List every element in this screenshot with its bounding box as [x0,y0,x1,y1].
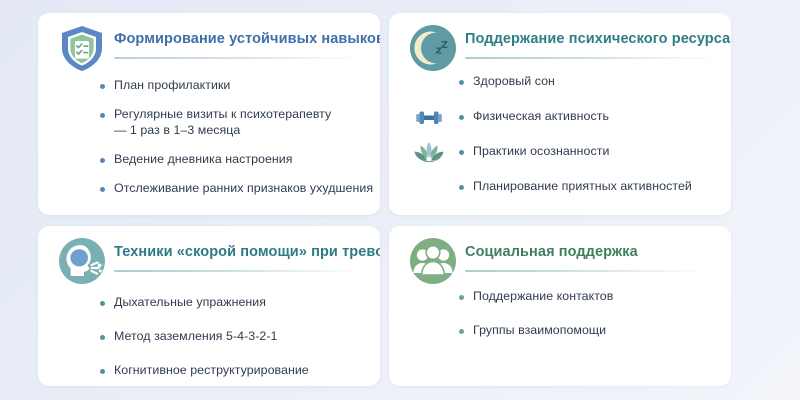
dumbbell-icon [412,104,446,132]
card-item-list: План профилактики Регулярные визиты к пс… [100,77,380,196]
bullet-icon [459,150,464,155]
card-skills: Формирование устойчивых навыков План про… [38,13,380,215]
list-item: Когнитивное реструктурирование [100,362,380,378]
list-item: Ведение дневника настроения [100,151,380,167]
bullet-icon [459,329,464,334]
list-item: Метод заземления 5-4-3-2-1 [100,328,380,344]
list-item-label: Ведение дневника настроения [114,151,293,167]
card-title: Социальная поддержка [465,244,638,260]
title-underline [465,270,707,272]
list-item-label: Физическая активность [473,108,609,124]
card-resource: z Z Поддержание психического ресурса Здо… [389,13,731,215]
card-title: Техники «скорой помощи» при тревоге [114,244,380,260]
bullet-icon [100,369,105,374]
list-item-label: Дыхательные упражнения [114,294,266,310]
bullet-icon [100,158,105,163]
bullet-icon [100,335,105,340]
list-item-label: Группы взаимопомощи [473,322,606,338]
card-header: z Z Поддержание психического ресурса [389,13,731,71]
list-item: Регулярные визиты к психотерапевту — 1 р… [100,106,380,138]
cards-grid: Формирование устойчивых навыков План про… [38,13,772,388]
shield-checklist-icon [56,22,108,74]
bullet-icon [459,80,464,85]
list-item-label: Практики осознанности [473,143,609,159]
list-item: Планирование приятных активностей [459,178,731,194]
list-item-label: Планирование приятных активностей [473,178,692,194]
list-item: Практики осознанности [459,143,731,159]
card-anxiety: Техники «скорой помощи» при тревоге Дыха… [38,226,380,386]
bullet-icon [100,84,105,89]
list-item-label: Поддержание контактов [473,288,613,304]
bullet-icon [100,187,105,192]
list-item: Группы взаимопомощи [459,322,731,338]
list-item: Дыхательные упражнения [100,294,380,310]
list-item: Отслеживание ранних признаков ухудшения [100,180,380,196]
bullet-icon [459,115,464,120]
list-item-label: Здоровый сон [473,73,555,89]
bullet-icon [459,185,464,190]
list-item-label: Когнитивное реструктурирование [114,362,309,378]
card-title: Формирование устойчивых навыков [114,31,380,47]
card-header: Социальная поддержка [389,226,731,284]
head-breathing-icon [56,235,108,287]
list-item-label: Отслеживание ранних признаков ухудшения [114,180,373,196]
bullet-icon [459,295,464,300]
list-item-label: План профилактики [114,77,230,93]
bullet-icon [100,113,105,118]
title-underline [114,57,362,59]
title-underline [114,270,362,272]
list-item: План профилактики [100,77,380,93]
card-header: Техники «скорой помощи» при тревоге [38,226,380,284]
bullet-icon [100,301,105,306]
card-title: Поддержание психического ресурса [465,31,730,47]
card-item-list: Дыхательные упражнения Метод заземления … [100,294,380,378]
card-header: Формирование устойчивых навыков [38,13,380,71]
list-item: Поддержание контактов [459,288,731,304]
lotus-icon [412,139,446,167]
people-group-icon [407,235,459,287]
card-social: Социальная поддержка Поддержание контакт… [389,226,731,386]
card-item-list: Здоровый сон Физическая активность [459,73,731,194]
list-item-label: Метод заземления 5-4-3-2-1 [114,328,277,344]
moon-sleep-icon: z Z [407,22,459,74]
list-item: Физическая активность [459,108,731,124]
list-item: Здоровый сон [459,73,731,89]
svg-text:Z: Z [441,40,448,51]
list-item-label: Регулярные визиты к психотерапевту — 1 р… [114,106,346,138]
title-underline [465,57,717,59]
card-item-list: Поддержание контактов Группы взаимопомощ… [459,288,731,338]
